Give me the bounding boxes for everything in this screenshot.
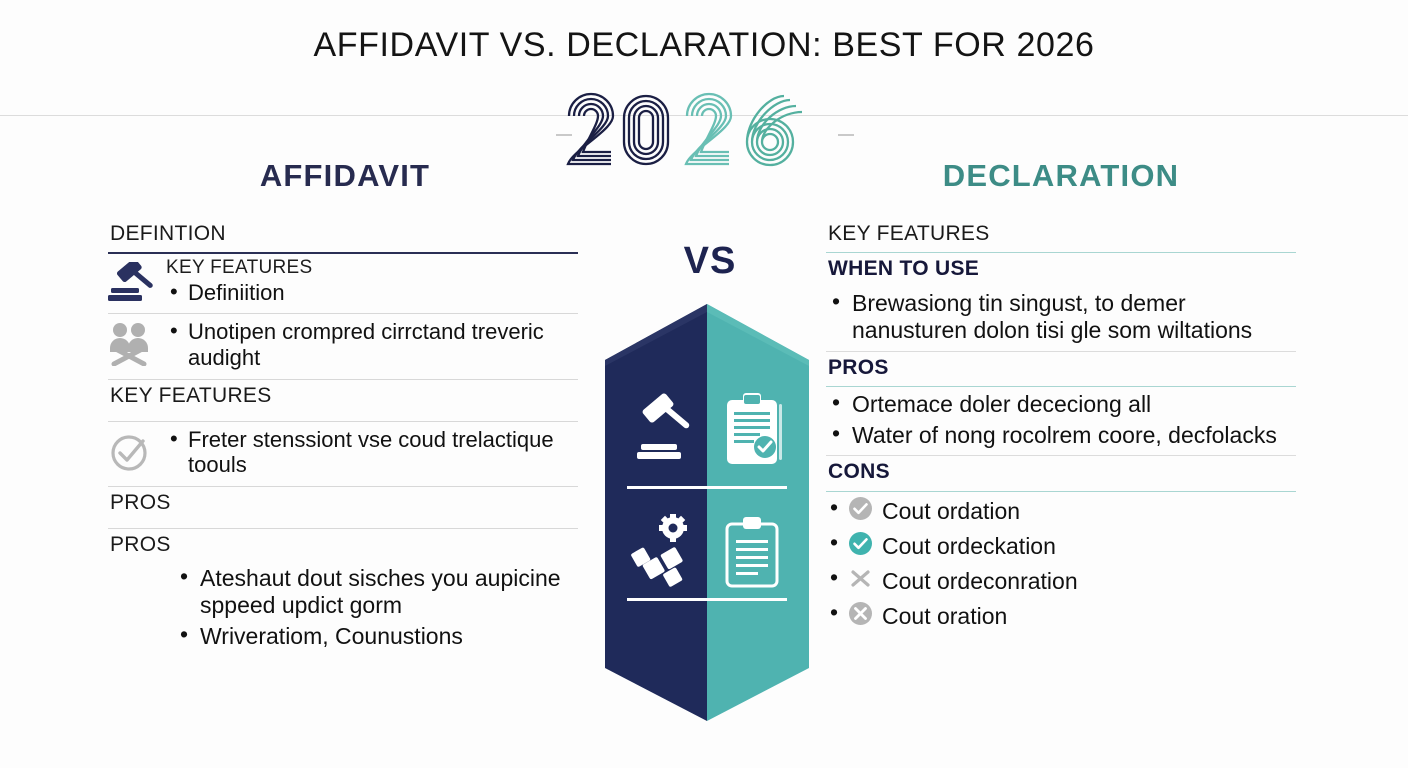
bullet-text: Ortemace doler dececiong all <box>826 391 1296 419</box>
list-item: Cout ordation <box>826 496 1296 527</box>
bullet-text: Brewasiong tin singust, to demer nanustu… <box>826 290 1296 345</box>
list-item: Cout oration <box>826 601 1296 632</box>
section-label-pros: PROS <box>826 356 1296 386</box>
divider-key-features <box>826 252 1296 253</box>
page-title: AFFIDAVIT VS. DECLARATION: BEST FOR 2026 <box>0 26 1408 65</box>
people-handshake-icon <box>108 318 166 366</box>
divider-after-pros-1 <box>108 528 578 529</box>
bullet-text: Wriveratiom, Counustions <box>174 623 578 651</box>
section-label-when-to-use: WHEN TO USE <box>826 257 1296 287</box>
divider-definition <box>108 252 578 254</box>
section-label-pros-2: PROS <box>108 533 578 563</box>
divider-before-cons <box>826 455 1296 456</box>
check-circle-filled-teal-icon <box>848 531 873 562</box>
pros-bullet-list: Ateshaut dout sisches you aupicine sppee… <box>174 565 578 651</box>
x-mark-icon <box>848 566 873 597</box>
year-2026-graphic <box>566 92 846 178</box>
divider-after-key-features <box>108 421 578 422</box>
list-item: Cout ordeckation <box>826 531 1296 562</box>
vs-hexagon-graphic <box>597 300 817 725</box>
list-item: Freter stenssiont vse coud trelactique t… <box>108 426 578 481</box>
cons-text: Cout ordeconration <box>882 568 1078 595</box>
section-label-pros-1: PROS <box>108 491 578 521</box>
bullet-text: Ateshaut dout sisches you aupicine sppee… <box>174 565 578 620</box>
divider-after-cons <box>826 491 1296 492</box>
divider-before-pros <box>826 351 1296 352</box>
section-label-key-features: KEY FEATURES <box>826 222 1296 252</box>
bullet-text: Freter stenssiont vse coud trelactique t… <box>166 427 578 479</box>
divider-before-pros-1 <box>108 486 578 487</box>
x-circle-filled-gray-icon <box>848 601 873 632</box>
cons-text: Cout ordeckation <box>882 533 1056 560</box>
divider-before-key-features <box>108 379 578 380</box>
section-label-cons: CONS <box>826 460 1296 490</box>
bullet-text: Definiition <box>166 280 578 306</box>
affidavit-column: DEFINTION KEY FEATURES Definiition <box>108 222 578 654</box>
divider-after-pros <box>826 386 1296 387</box>
cons-text: Cout oration <box>882 603 1007 630</box>
sub-label-key-features: KEY FEATURES <box>166 258 578 279</box>
bullet-text: Water of nong rocolrem coore, decfolacks <box>826 422 1296 450</box>
list-item: KEY FEATURES Definiition <box>108 258 578 308</box>
list-item: Cout ordeconration <box>826 566 1296 597</box>
infographic-canvas: AFFIDAVIT VS. DECLARATION: BEST FOR 2026 <box>0 0 1408 768</box>
column-heading-declaration: DECLARATION <box>826 158 1296 194</box>
bullet-text: Unotipen crompred cirrctand treveric aud… <box>166 319 578 371</box>
list-item: Unotipen crompred cirrctand treveric aud… <box>108 318 578 373</box>
column-heading-affidavit: AFFIDAVIT <box>110 158 580 194</box>
section-label-key-features: KEY FEATURES <box>108 384 578 414</box>
vs-label: VS <box>610 240 810 283</box>
gavel-icon <box>108 258 166 304</box>
divider-after-definition-item <box>108 313 578 314</box>
section-label-definition: DEFINTION <box>108 222 578 252</box>
check-circle-filled-gray-icon <box>848 496 873 527</box>
cons-text: Cout ordation <box>882 498 1020 525</box>
declaration-column: KEY FEATURES WHEN TO USE Brewasiong tin … <box>826 222 1296 636</box>
check-circle-outline-icon <box>108 426 166 474</box>
